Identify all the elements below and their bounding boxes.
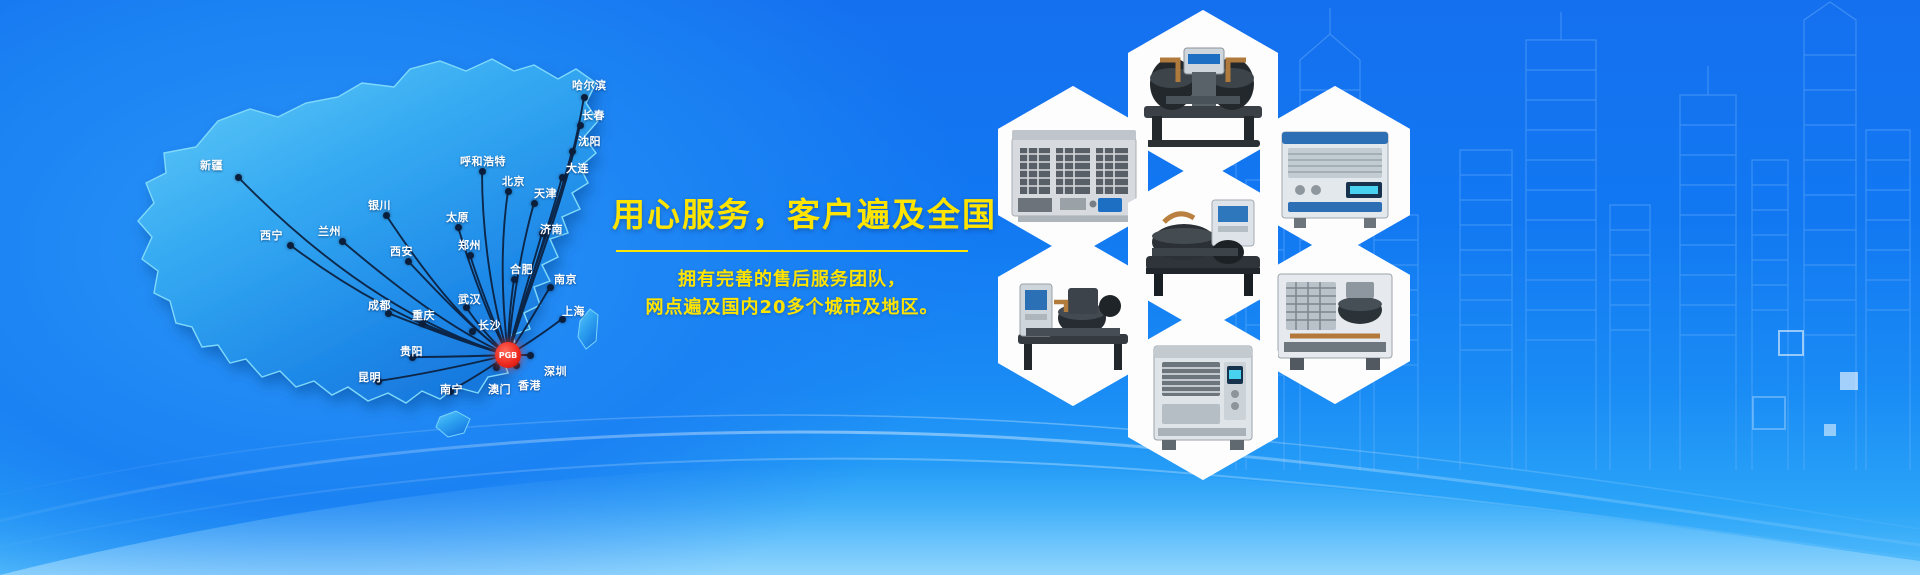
city-label: 沈阳: [578, 133, 601, 149]
city-label: 郑州: [458, 237, 481, 253]
city-dot: [569, 148, 576, 155]
city-label: 武汉: [458, 291, 481, 307]
service-network-banner: 新疆哈尔滨长春沈阳大连呼和浩特北京天津银川太原济南兰州西宁西安郑州合肥南京上海武…: [0, 0, 1920, 575]
city-dot: [559, 174, 566, 181]
city-label: 长春: [582, 107, 605, 123]
product-hex-open-type-chiller[interactable]: [1260, 232, 1410, 404]
product-hexagon-grid: [960, 0, 1480, 470]
city-label: 澳门: [488, 381, 511, 397]
city-label: 上海: [562, 303, 585, 319]
city-dot: [547, 284, 554, 291]
city-dot: [235, 174, 242, 181]
city-label: 合肥: [510, 261, 533, 277]
city-label: 贵阳: [400, 343, 423, 359]
city-label: 哈尔滨: [572, 77, 607, 93]
product-hex-refrigeration-compressor-unit[interactable]: [998, 234, 1148, 406]
city-label: 深圳: [544, 363, 567, 379]
city-label: 天津: [534, 185, 557, 201]
city-label: 银川: [368, 197, 391, 213]
city-label: 重庆: [412, 307, 435, 323]
city-label: 大连: [566, 160, 589, 176]
city-label: 长沙: [478, 317, 501, 333]
hub-label: PGB: [499, 351, 518, 360]
city-label: 北京: [502, 173, 525, 189]
product-hex-condensing-unit[interactable]: [1128, 160, 1278, 332]
product-hex-air-cooled-box-chiller[interactable]: [998, 86, 1148, 258]
city-label: 成都: [368, 297, 391, 313]
city-dot: [581, 94, 588, 101]
city-dot: [287, 242, 294, 249]
city-label: 香港: [518, 377, 541, 393]
city-label: 太原: [446, 209, 469, 225]
city-label: 呼和浩特: [460, 153, 506, 169]
city-dot: [469, 328, 476, 335]
subtitle-line-2: 网点遍及国内20多个城市及地区。: [612, 294, 972, 322]
title-divider: [616, 250, 968, 252]
subtitle-line-1: 拥有完善的售后服务团队，: [612, 266, 972, 294]
page-title: 用心服务，客户遍及全国: [612, 196, 972, 234]
city-label: 西安: [390, 243, 413, 259]
headline-block: 用心服务，客户遍及全国 拥有完善的售后服务团队， 网点遍及国内20多个城市及地区…: [612, 196, 972, 322]
product-hex-water-cooled-screw-chiller[interactable]: [1128, 10, 1278, 182]
city-dot: [527, 352, 534, 359]
city-label: 昆明: [358, 369, 381, 385]
city-label: 西宁: [260, 227, 283, 243]
city-label: 南宁: [440, 381, 463, 397]
hub-marker: PGB: [495, 342, 521, 368]
city-label: 南京: [554, 271, 577, 287]
product-hex-cabinet-water-chiller[interactable]: [1128, 308, 1278, 480]
city-label: 兰州: [318, 223, 341, 239]
city-label: 新疆: [200, 157, 223, 173]
city-label: 济南: [540, 221, 563, 237]
